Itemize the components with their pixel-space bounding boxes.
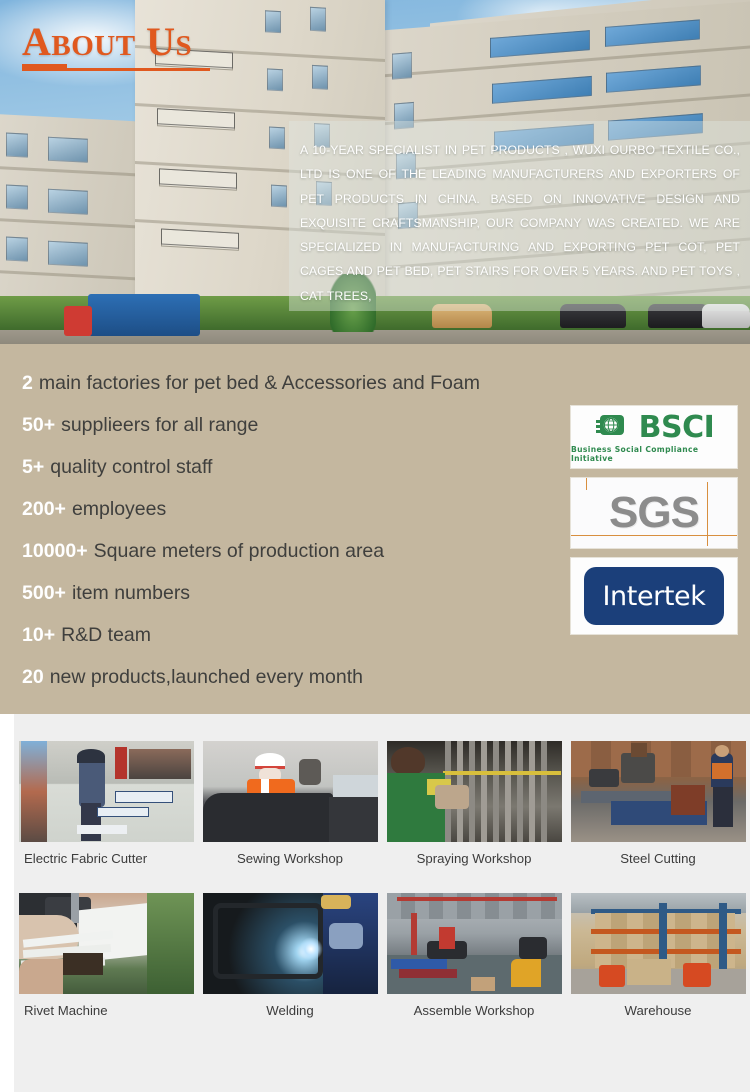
gallery-caption: Warehouse: [566, 994, 750, 1018]
stat-label: item numbers: [72, 582, 190, 605]
photo-assemble-workshop[interactable]: [387, 893, 562, 994]
stat-label: new products,launched every month: [50, 666, 363, 689]
sgs-accent-line-vertical: [707, 482, 708, 546]
stat-item: 10000+ Square meters of production area: [22, 530, 567, 572]
intertek-wordmark: Intertek: [602, 583, 705, 610]
stat-label: R&D team: [61, 624, 151, 647]
bsci-logo: BSCI Business Social Compliance Initiati…: [570, 405, 738, 469]
gallery-item[interactable]: Steel Cutting: [566, 714, 750, 866]
gallery-row: Electric Fabric Cutter Sewing Wo: [14, 714, 750, 866]
gallery-item[interactable]: Spraying Workshop: [382, 714, 566, 866]
gallery-caption: Electric Fabric Cutter: [14, 842, 198, 866]
about-us-page: ABOUT US A 10-YEAR SPECIALIST IN PET PRO…: [0, 0, 750, 1092]
stats-section: 2 main factories for pet bed & Accessori…: [0, 344, 750, 714]
stat-number: 10000+: [22, 540, 88, 563]
stat-item: 200+ employees: [22, 488, 567, 530]
page-title-text: ABOUT US: [22, 19, 192, 64]
sgs-accent-line-vertical-2: [586, 478, 587, 490]
sgs-logo: SGS: [570, 477, 738, 549]
stat-item: 2 main factories for pet bed & Accessori…: [22, 362, 567, 404]
gallery-grid: Electric Fabric Cutter Sewing Wo: [14, 714, 750, 1018]
blue-truck: [88, 294, 200, 336]
facility-gallery: Electric Fabric Cutter Sewing Wo: [0, 714, 750, 1092]
hand-globe-icon: [594, 411, 634, 444]
bsci-wordmark: BSCI: [639, 413, 715, 443]
intertek-logo: Intertek: [570, 557, 738, 635]
gallery-caption: Spraying Workshop: [382, 842, 566, 866]
gallery-item[interactable]: Assemble Workshop: [382, 866, 566, 1018]
stat-number: 500+: [22, 582, 66, 605]
stat-number: 20: [22, 666, 44, 689]
hero-text-overlay: A 10-YEAR SPECIALIST IN PET PRODUCTS , W…: [289, 121, 750, 311]
stat-item: 500+ item numbers: [22, 572, 567, 614]
stat-label: Square meters of production area: [94, 540, 385, 563]
gallery-caption: Steel Cutting: [566, 842, 750, 866]
stat-label: employees: [72, 498, 166, 521]
photo-steel-cutting[interactable]: [571, 741, 746, 842]
photo-electric-fabric-cutter[interactable]: [19, 741, 194, 842]
gallery-item[interactable]: Warehouse: [566, 866, 750, 1018]
stat-item: 50+ supplieers for all range: [22, 404, 567, 446]
stat-item: 10+ R&D team: [22, 614, 567, 656]
photo-warehouse[interactable]: [571, 893, 746, 994]
gallery-item[interactable]: Sewing Workshop: [198, 714, 382, 866]
stat-number: 50+: [22, 414, 55, 437]
gallery-caption: Rivet Machine: [14, 994, 198, 1018]
sgs-wordmark: SGS: [609, 491, 699, 535]
gallery-item[interactable]: Welding: [198, 866, 382, 1018]
stat-number: 5+: [22, 456, 44, 479]
gallery-row: Rivet Machine Welding: [14, 866, 750, 1018]
title-underline-accent: [22, 64, 67, 71]
gallery-item[interactable]: Rivet Machine: [14, 866, 198, 1018]
stat-label: main factories for pet bed & Accessories…: [39, 372, 480, 395]
photo-sewing-workshop[interactable]: [203, 741, 378, 842]
photo-rivet-machine[interactable]: [19, 893, 194, 994]
stat-item: 5+ quality control staff: [22, 446, 567, 488]
page-title: ABOUT US: [22, 22, 192, 62]
gallery-caption: Assemble Workshop: [382, 994, 566, 1018]
stat-number: 10+: [22, 624, 55, 647]
gallery-caption: Sewing Workshop: [198, 842, 382, 866]
stat-label: supplieers for all range: [61, 414, 258, 437]
bsci-tagline: Business Social Compliance Initiative: [571, 445, 737, 463]
hero-banner: ABOUT US A 10-YEAR SPECIALIST IN PET PRO…: [0, 0, 750, 344]
stat-item: 20 new products,launched every month: [22, 656, 567, 698]
about-paragraph: A 10-YEAR SPECIALIST IN PET PRODUCTS , W…: [289, 121, 750, 308]
gallery-caption: Welding: [198, 994, 382, 1018]
photo-spraying-workshop[interactable]: [387, 741, 562, 842]
stat-number: 200+: [22, 498, 66, 521]
gallery-item[interactable]: Electric Fabric Cutter: [14, 714, 198, 866]
stat-label: quality control staff: [50, 456, 212, 479]
stats-list: 2 main factories for pet bed & Accessori…: [22, 362, 567, 698]
certification-logos: BSCI Business Social Compliance Initiati…: [570, 405, 738, 643]
stat-number: 2: [22, 372, 33, 395]
photo-welding[interactable]: [203, 893, 378, 994]
